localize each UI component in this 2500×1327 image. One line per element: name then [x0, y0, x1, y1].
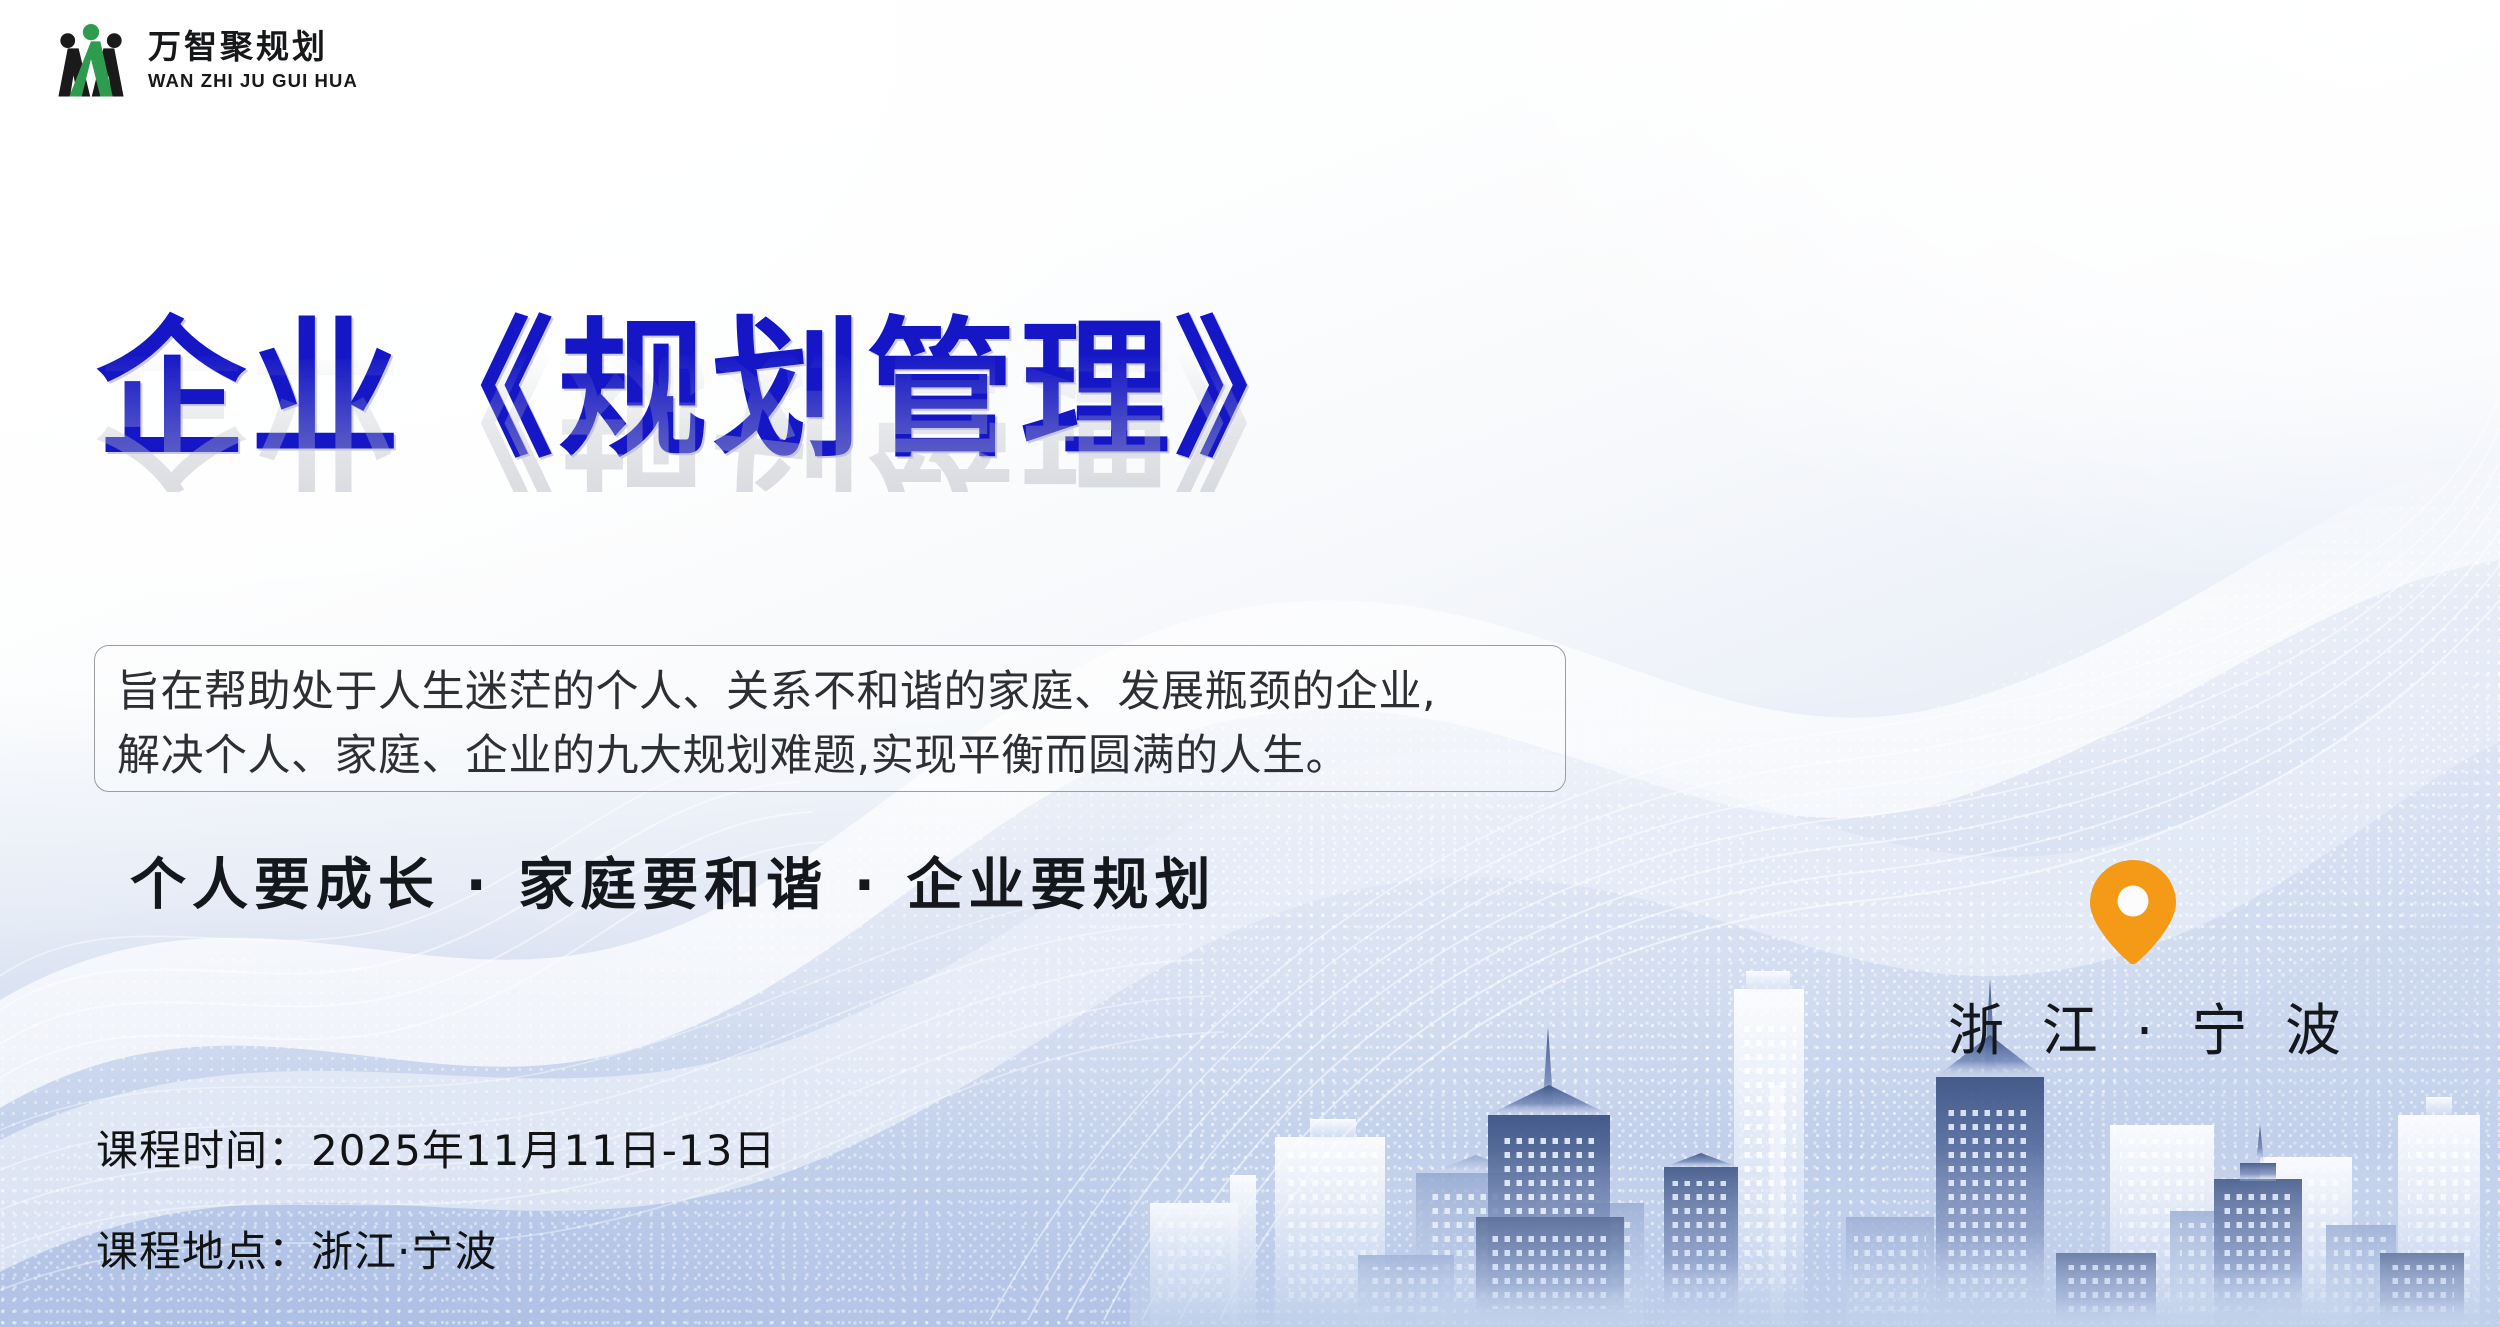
description-line-2: 解决个人、家庭、企业的九大规划难题,实现平衡而圆满的人生。 [117, 724, 1543, 788]
course-info-block: 课程时间：2025年11月11日-13日 课程地点：浙江·宁波 [96, 1117, 776, 1279]
map-pin-icon [2090, 860, 2176, 964]
course-time-row: 课程时间：2025年11月11日-13日 [96, 1117, 776, 1178]
brand-name-en: WAN ZHI JU GUI HUA [148, 72, 358, 91]
brand-logo[interactable]: 万智聚规划 WAN ZHI JU GUI HUA [52, 22, 358, 98]
location-block: 浙 江 · 宁 波 [1948, 860, 2318, 1067]
brand-name-cn: 万智聚规划 [148, 30, 358, 63]
page-title-reflection: 企业《规划管理》 [96, 342, 1328, 492]
poster-canvas: 万智聚规划 WAN ZHI JU GUI HUA 企业《规划管理》 企业《规划管… [0, 0, 2500, 1327]
three-people-logo-icon [52, 22, 130, 98]
description-line-1: 旨在帮助处于人生迷茫的个人、关系不和谐的家庭、发展瓶颈的企业, [117, 660, 1543, 724]
brand-text: 万智聚规划 WAN ZHI JU GUI HUA [148, 30, 358, 91]
hero-title-block: 企业《规划管理》 企业《规划管理》 [96, 316, 1576, 616]
location-city-label: 浙 江 · 宁 波 [1948, 986, 2318, 1067]
tagline: 个人要成长 · 家庭要和谐 · 企业要规划 [130, 840, 1217, 921]
course-place-row: 课程地点：浙江·宁波 [96, 1218, 776, 1279]
description-box: 旨在帮助处于人生迷茫的个人、关系不和谐的家庭、发展瓶颈的企业, 解决个人、家庭、… [94, 645, 1566, 792]
